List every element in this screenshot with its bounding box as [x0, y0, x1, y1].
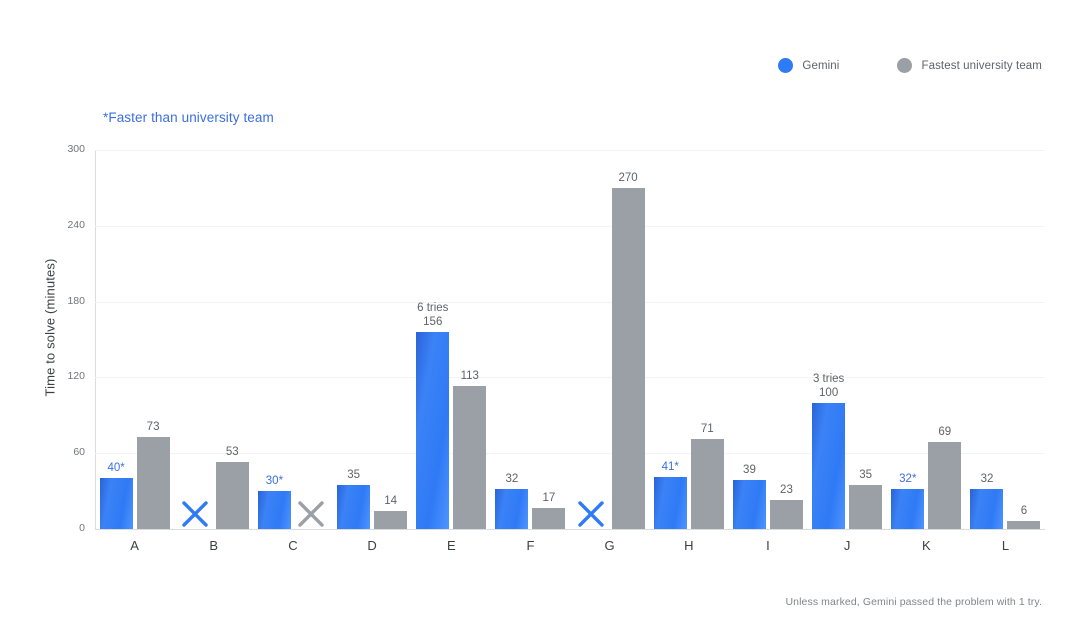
bar-slot-university: 73 — [137, 150, 170, 529]
bar-slot-university: 17 — [532, 150, 565, 529]
y-tick-label: 120 — [51, 370, 85, 382]
circle-icon — [778, 58, 793, 73]
bar-slot-university: 6 — [1007, 150, 1040, 529]
bar-pair: 53 — [179, 150, 249, 529]
bar-slot-university: 270 — [612, 150, 645, 529]
bar-university-h[interactable]: 71 — [691, 439, 724, 529]
chart-footnote: Unless marked, Gemini passed the problem… — [785, 596, 1042, 608]
bar-slot-gemini — [575, 150, 608, 529]
bar-gemini-i[interactable]: 39 — [733, 480, 766, 529]
bar-value: 39 — [743, 464, 756, 476]
bar-value-label: 69 — [938, 425, 951, 439]
bar-university-g[interactable]: 270 — [612, 188, 645, 529]
y-tick-label: 0 — [51, 522, 85, 534]
bar-gemini-e[interactable]: 6 tries156 — [416, 332, 449, 529]
bar-value-label: 35 — [859, 468, 872, 482]
bar-value: 32 — [981, 473, 994, 485]
bar-group-d: 3514 — [333, 150, 412, 529]
x-axis-label-k: K — [887, 538, 966, 553]
legend-item-fastest-university-team[interactable]: Fastest university team — [897, 58, 1042, 73]
bar-slot-university: 53 — [216, 150, 249, 529]
bar-gemini-j[interactable]: 3 tries100 — [812, 403, 845, 529]
y-tick-label: 240 — [51, 219, 85, 231]
x-axis-label-a: A — [95, 538, 174, 553]
bar-value-label: 270 — [619, 171, 638, 185]
bar-gemini-h[interactable]: 41* — [654, 477, 687, 529]
x-axis-label-b: B — [174, 538, 253, 553]
bar-slot-gemini: 32* — [891, 150, 924, 529]
bar-value: 23 — [780, 484, 793, 496]
bar-group-e: 6 tries156113 — [412, 150, 491, 529]
bar-value-label: 40* — [107, 461, 124, 475]
bar-value: 6 — [1021, 505, 1027, 517]
x-axis-label-h: H — [649, 538, 728, 553]
bar-slot-gemini: 30* — [258, 150, 291, 529]
bar-group-c: 30* — [253, 150, 332, 529]
bar-pair: 6 tries156113 — [416, 150, 486, 529]
bar-value: 41* — [662, 461, 679, 473]
bar-value: 100 — [819, 387, 838, 399]
x-axis-label-c: C — [253, 538, 332, 553]
bar-university-j[interactable]: 35 — [849, 485, 882, 529]
bar-value-label: 30* — [266, 474, 283, 488]
x-axis-label-l: L — [966, 538, 1045, 553]
chart-legend: GeminiFastest university team — [778, 58, 1042, 73]
bar-value: 32* — [899, 473, 916, 485]
bar-value-label: 32 — [506, 472, 519, 486]
bar-slot-gemini: 41* — [654, 150, 687, 529]
bar-university-a[interactable]: 73 — [137, 437, 170, 529]
bar-value: 113 — [461, 370, 479, 382]
x-axis-label-f: F — [491, 538, 570, 553]
bar-pair: 3217 — [495, 150, 565, 529]
bar-value: 73 — [147, 421, 160, 433]
bar-value: 156 — [423, 316, 442, 328]
y-axis-title: Time to solve (minutes) — [43, 128, 58, 528]
bar-group-l: 326 — [966, 150, 1045, 529]
bar-gemini-c[interactable]: 30* — [258, 491, 291, 529]
failed-x-icon — [296, 499, 326, 529]
tries-note: 6 tries — [417, 301, 448, 315]
bar-slot-gemini: 35 — [337, 150, 370, 529]
circle-icon — [897, 58, 912, 73]
y-tick-label: 300 — [51, 143, 85, 155]
tries-note: 3 tries — [813, 372, 844, 386]
bar-gemini-d[interactable]: 35 — [337, 485, 370, 529]
y-tick-label: 180 — [51, 295, 85, 307]
bar-value: 17 — [543, 492, 556, 504]
bar-value-label: 14 — [384, 494, 397, 508]
bar-slot-gemini: 40* — [100, 150, 133, 529]
bar-group-i: 3923 — [728, 150, 807, 529]
bar-value: 32 — [506, 473, 519, 485]
bar-group-h: 41*71 — [649, 150, 728, 529]
bar-gemini-l[interactable]: 32 — [970, 489, 1003, 529]
bar-university-d[interactable]: 14 — [374, 511, 407, 529]
bar-slot-university: 14 — [374, 150, 407, 529]
bar-slot-university: 69 — [928, 150, 961, 529]
bar-university-e[interactable]: 113 — [453, 386, 486, 529]
bar-value-label: 6 — [1021, 504, 1027, 518]
bar-value: 14 — [384, 495, 397, 507]
legend-label: Gemini — [802, 60, 839, 72]
bar-value: 71 — [701, 423, 714, 435]
bar-slot-gemini: 39 — [733, 150, 766, 529]
bar-value: 69 — [938, 426, 951, 438]
legend-label: Fastest university team — [921, 60, 1042, 72]
bar-value: 35 — [347, 469, 360, 481]
bar-value: 270 — [619, 172, 638, 184]
x-axis-label-j: J — [808, 538, 887, 553]
faster-than-university-annotation: *Faster than university team — [103, 110, 274, 125]
bar-pair: 41*71 — [654, 150, 724, 529]
bar-value-label: 39 — [743, 463, 756, 477]
bar-value-label: 17 — [543, 491, 556, 505]
bar-pair: 40*73 — [100, 150, 170, 529]
bar-value-label: 23 — [780, 483, 793, 497]
bar-value-label: 113 — [461, 369, 479, 383]
bar-slot-university: 35 — [849, 150, 882, 529]
bar-value: 53 — [226, 446, 239, 458]
bar-value-label: 6 tries156 — [417, 301, 448, 329]
x-axis-label-d: D — [333, 538, 412, 553]
bar-pair: 30* — [258, 150, 328, 529]
bar-slot-gemini: 6 tries156 — [416, 150, 449, 529]
failed-x-icon — [576, 499, 606, 529]
y-tick-label: 60 — [51, 446, 85, 458]
x-axis-label-e: E — [412, 538, 491, 553]
bar-groups: 40*735330*35146 tries156113321727041*713… — [95, 150, 1045, 529]
bar-value-label: 35 — [347, 468, 360, 482]
bar-pair: 326 — [970, 150, 1040, 529]
bar-group-k: 32*69 — [887, 150, 966, 529]
x-axis-labels: ABCDEFGHIJKL — [95, 538, 1045, 553]
bar-university-f[interactable]: 17 — [532, 508, 565, 529]
bar-pair: 3514 — [337, 150, 407, 529]
gridline-0 — [95, 529, 1045, 530]
bar-value-label: 71 — [701, 422, 714, 436]
bar-value-label: 41* — [662, 460, 679, 474]
bar-group-g: 270 — [570, 150, 649, 529]
bar-university-l[interactable]: 6 — [1007, 521, 1040, 529]
bar-slot-university — [295, 150, 328, 529]
bar-slot-gemini: 3 tries100 — [812, 150, 845, 529]
plot-area: 300240180120600 40*735330*35146 tries156… — [95, 150, 1045, 529]
bar-value-label: 3 tries100 — [813, 372, 844, 400]
bar-value-label: 73 — [147, 420, 160, 434]
bar-pair: 270 — [575, 150, 645, 529]
bar-group-j: 3 tries10035 — [808, 150, 887, 529]
x-axis-label-g: G — [570, 538, 649, 553]
bar-value: 30* — [266, 475, 283, 487]
legend-item-gemini[interactable]: Gemini — [778, 58, 839, 73]
failed-x-icon — [180, 499, 210, 529]
x-axis-label-i: I — [728, 538, 807, 553]
bar-slot-university: 113 — [453, 150, 486, 529]
bar-university-b[interactable]: 53 — [216, 462, 249, 529]
bar-value-label: 32* — [899, 472, 916, 486]
bar-slot-gemini — [179, 150, 212, 529]
bar-university-i[interactable]: 23 — [770, 500, 803, 529]
bar-slot-gemini: 32 — [495, 150, 528, 529]
bar-pair: 32*69 — [891, 150, 961, 529]
bar-value-label: 32 — [981, 472, 994, 486]
bar-pair: 3923 — [733, 150, 803, 529]
bar-slot-university: 71 — [691, 150, 724, 529]
bar-group-b: 53 — [174, 150, 253, 529]
bar-pair: 3 tries10035 — [812, 150, 882, 529]
bar-group-a: 40*73 — [95, 150, 174, 529]
bar-slot-university: 23 — [770, 150, 803, 529]
bar-gemini-a[interactable]: 40* — [100, 478, 133, 529]
bar-group-f: 3217 — [491, 150, 570, 529]
bar-gemini-k[interactable]: 32* — [891, 489, 924, 529]
bar-slot-gemini: 32 — [970, 150, 1003, 529]
bar-university-k[interactable]: 69 — [928, 442, 961, 529]
bar-gemini-f[interactable]: 32 — [495, 489, 528, 529]
bar-value-label: 53 — [226, 445, 239, 459]
bar-value: 35 — [859, 469, 872, 481]
bar-value: 40* — [107, 462, 124, 474]
